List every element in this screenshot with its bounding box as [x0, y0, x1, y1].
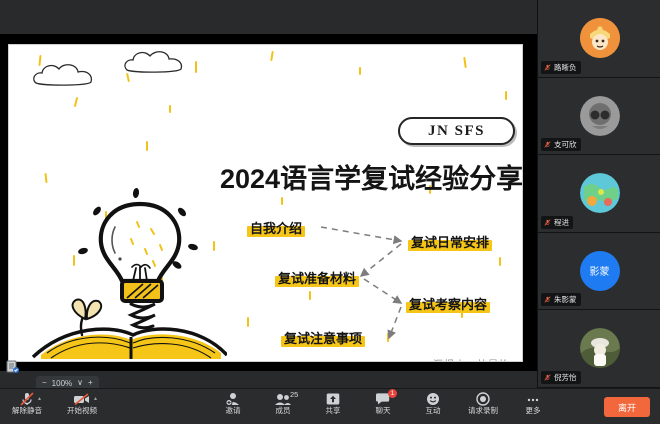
participant-tile[interactable]: 程进	[538, 155, 660, 233]
participant-nametag: 支可欣	[541, 138, 581, 151]
mic-muted-icon: ▴	[19, 392, 35, 406]
mindmap-node-material: 复试准备材料	[275, 267, 359, 288]
record-icon	[476, 392, 490, 406]
mindmap-node-daily-schedule: 复试日常安排	[408, 231, 492, 252]
toolbar-unmute-button[interactable]: ▴ 解除静音	[4, 392, 50, 415]
zoom-out-button[interactable]: −	[42, 379, 47, 387]
mic-muted-icon	[544, 219, 551, 226]
mindmap-node-label: 复试注意事项	[284, 331, 362, 346]
participant-name: 倪芳怡	[554, 372, 577, 383]
mic-muted-icon	[544, 296, 551, 303]
participant-nametag: 路晰负	[541, 61, 581, 74]
zoom-in-button[interactable]: +	[88, 379, 93, 387]
mindmap-node-exam-content: 复试考察内容	[406, 293, 490, 314]
participant-nametag: 倪芳怡	[541, 371, 581, 384]
participant-tile[interactable]: 影蒙 朱影蒙	[538, 233, 660, 311]
mic-muted-icon	[544, 374, 551, 381]
participant-nametag: 程进	[541, 216, 573, 229]
toolbar-invite-button[interactable]: 邀请	[210, 392, 256, 415]
participant-tile[interactable]: 倪芳怡	[538, 310, 660, 388]
toolbar-reaction-button[interactable]: 互动	[410, 392, 456, 415]
toolbar-label: 聊天	[376, 407, 391, 415]
mindmap-connectors	[9, 45, 523, 362]
presentation-slide: JN SFS 2024语言学复试经验分享 自我介绍	[8, 44, 523, 362]
toolbar-label: 成员	[276, 407, 291, 415]
mindmap-node-intro: 自我介绍	[247, 217, 305, 238]
toolbar-record-button[interactable]: 请求录制	[460, 392, 506, 415]
toolbar-label: 互动	[426, 407, 441, 415]
avatar	[580, 173, 620, 213]
chevron-up-icon[interactable]: ▴	[94, 396, 97, 402]
mindmap-node-label: 复试日常安排	[411, 235, 489, 250]
toolbar-label: 请求录制	[468, 407, 498, 415]
mic-muted-icon	[544, 64, 551, 71]
avatar	[580, 96, 620, 136]
avatar	[580, 328, 620, 368]
toolbar-label: 开始视频	[67, 407, 97, 415]
toolbar-start-video-button[interactable]: ▴ 开始视频	[59, 392, 105, 415]
participant-tile[interactable]: 支可欣	[538, 78, 660, 156]
toolbar-label: 共享	[326, 407, 341, 415]
leave-meeting-button[interactable]: 离开	[604, 397, 650, 417]
ellipsis-icon	[526, 392, 540, 406]
invite-icon	[225, 392, 241, 406]
zoom-level-label: 100%	[52, 379, 72, 388]
meeting-toolbar: ▴ 解除静音 ▴ 开始视频	[0, 388, 660, 424]
toolbar-label: 解除静音	[12, 407, 42, 415]
mindmap-node-label: 复试考察内容	[409, 297, 487, 312]
participant-nametag: 朱影蒙	[541, 293, 581, 306]
zoom-dropdown-icon[interactable]: ∨	[77, 379, 83, 387]
mindmap-node-notes: 复试注意事项	[281, 327, 365, 348]
chat-unread-badge: 1	[388, 389, 397, 398]
chevron-up-icon[interactable]: ▴	[38, 396, 41, 402]
smiley-icon	[426, 392, 440, 406]
participant-name: 路晰负	[554, 62, 577, 73]
toolbar-label: 更多	[526, 407, 541, 415]
share-icon	[326, 392, 340, 406]
toolbar-more-button[interactable]: 更多	[510, 392, 556, 415]
avatar: 影蒙	[580, 251, 620, 291]
participant-name: 朱影蒙	[554, 294, 577, 305]
avatar-initials: 影蒙	[590, 263, 610, 278]
toolbar-share-button[interactable]: 共享	[310, 392, 356, 415]
participant-name: 程进	[554, 217, 569, 228]
members-icon: 25	[275, 392, 291, 406]
mindmap-node-label: 复试准备材料	[278, 271, 356, 286]
participant-video-strip[interactable]: 路晰负 支可欣	[537, 0, 660, 388]
shared-screen-stage: JN SFS 2024语言学复试经验分享 自我介绍	[0, 0, 537, 388]
toolbar-members-button[interactable]: 25 成员	[260, 392, 306, 415]
avatar	[580, 18, 620, 58]
toolbar-chat-button[interactable]: 1 聊天	[360, 392, 406, 415]
mindmap-node-label: 自我介绍	[250, 221, 302, 236]
participant-tile[interactable]: 路晰负	[538, 0, 660, 78]
chat-icon: 1	[375, 392, 391, 406]
document-status-icon	[5, 359, 19, 373]
leave-label: 离开	[618, 401, 636, 414]
video-muted-icon: ▴	[73, 392, 91, 406]
toolbar-label: 邀请	[226, 407, 241, 415]
members-count: 25	[290, 391, 298, 399]
mic-muted-icon	[544, 141, 551, 148]
meeting-window: JN SFS 2024语言学复试经验分享 自我介绍	[0, 0, 660, 424]
participant-name: 支可欣	[554, 139, 577, 150]
